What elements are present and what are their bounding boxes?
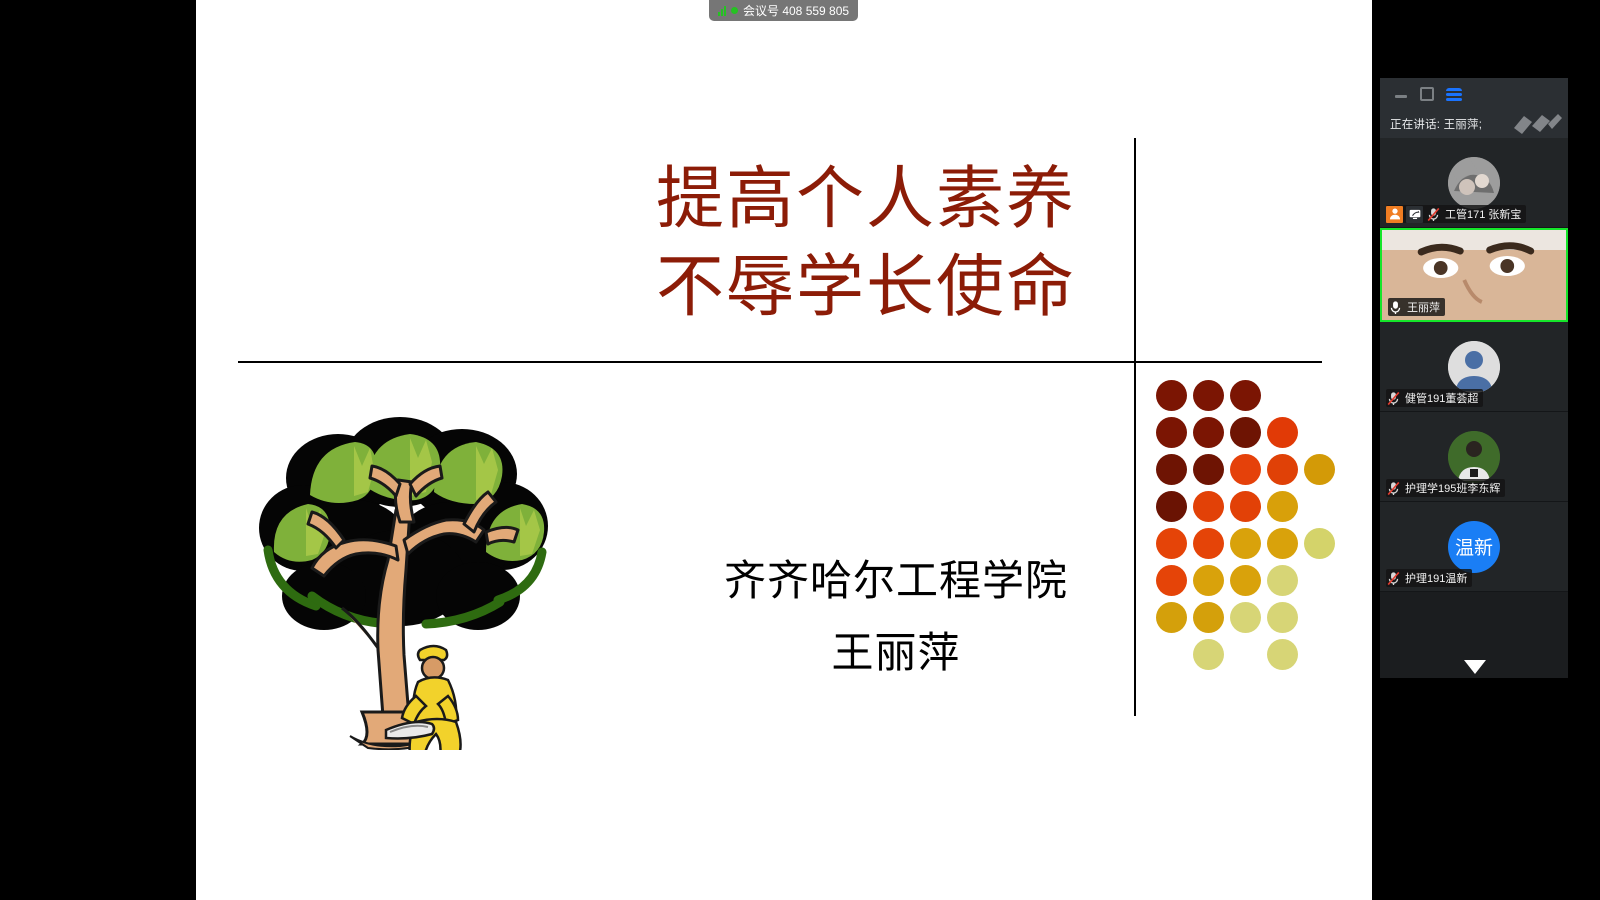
decorative-dot: [1230, 454, 1261, 485]
decorative-dot: [1193, 602, 1224, 633]
participant-tile[interactable]: 健管191董荟超: [1380, 322, 1568, 412]
decorative-dot: [1267, 602, 1298, 633]
avatar: [1448, 431, 1500, 483]
decorative-dot: [1267, 565, 1298, 596]
decorative-dot: [1156, 602, 1187, 633]
meeting-id-pill[interactable]: 会议号 408 559 805: [709, 0, 858, 21]
decorative-dot: [1156, 528, 1187, 559]
decorative-dot: [1156, 491, 1187, 522]
mic-muted-icon: [1426, 206, 1441, 223]
decorative-dot: [1193, 491, 1224, 522]
decorative-dot: [1267, 417, 1298, 448]
participant-badge: 工管171 张新宝: [1386, 205, 1526, 223]
minimize-icon[interactable]: [1394, 87, 1408, 101]
decorative-dot: [1230, 602, 1261, 633]
signal-bars-icon: [718, 6, 726, 16]
active-speaker-label: 正在讲话: 王丽萍;: [1390, 116, 1482, 132]
decorative-dot: [1304, 528, 1335, 559]
decorative-dot: [1193, 528, 1224, 559]
avatar: [1448, 157, 1500, 209]
panel-titlebar: [1380, 78, 1568, 110]
participant-tile[interactable]: 王丽萍: [1380, 228, 1568, 322]
participant-name: 护理学195班李东辉: [1404, 480, 1500, 496]
decorative-dot: [1156, 565, 1187, 596]
decorative-dot: [1230, 565, 1261, 596]
participant-tile[interactable]: 工管171 张新宝: [1380, 138, 1568, 228]
mic-muted-icon: [1386, 390, 1401, 407]
decorative-dot: [1156, 454, 1187, 485]
decorative-dot: [1267, 639, 1298, 670]
mic-muted-icon: [1386, 570, 1401, 587]
slide-title-line-1: 提高个人素养: [656, 160, 1076, 239]
slide-title: 提高个人素养 不辱学长使命: [616, 156, 1116, 332]
slide-subtitle-line-1: 齐齐哈尔工程学院: [724, 556, 1068, 605]
participant-tile[interactable]: 温新护理191温新: [1380, 502, 1568, 592]
active-speaker-status: 正在讲话: 王丽萍;: [1380, 110, 1568, 138]
decorative-dot: [1230, 491, 1261, 522]
decorative-dot: [1193, 639, 1224, 670]
participant-name: 健管191董荟超: [1404, 390, 1478, 406]
decorative-dot: [1193, 380, 1224, 411]
participant-badge: 健管191董荟超: [1386, 389, 1483, 407]
lumberjack-tree-illustration: [250, 400, 560, 750]
participant-name: 工管171 张新宝: [1444, 206, 1521, 222]
decorative-dot: [1267, 454, 1298, 485]
decorative-dot: [1193, 454, 1224, 485]
participant-name: 王丽萍: [1406, 299, 1440, 315]
avatar: [1448, 341, 1500, 393]
decorative-dot: [1156, 380, 1187, 411]
decorative-dot: [1193, 417, 1224, 448]
meeting-id-label: 会议号 408 559 805: [743, 2, 849, 19]
decorative-dot: [1304, 454, 1335, 485]
audio-level-icon: [1512, 114, 1562, 134]
participant-badge: 护理191温新: [1386, 569, 1472, 587]
slide-subtitle: 齐齐哈尔工程学院 王丽萍: [646, 545, 1146, 689]
decorative-dot: [1267, 528, 1298, 559]
participant-tile[interactable]: 护理学195班李东辉: [1380, 412, 1568, 502]
decorative-dot: [1230, 417, 1261, 448]
shared-slide: 提高个人素养 不辱学长使命 齐齐哈尔工程学院 王丽萍: [196, 0, 1372, 900]
decorative-dot: [1193, 565, 1224, 596]
screen-share-icon: [1406, 206, 1423, 223]
recording-dot-icon: [731, 7, 738, 14]
decorative-dot: [1267, 491, 1298, 522]
maximize-icon[interactable]: [1420, 87, 1434, 101]
decorative-dot: [1156, 417, 1187, 448]
host-person-icon: [1386, 206, 1403, 223]
scroll-down-caret-icon[interactable]: [1464, 660, 1486, 674]
participant-badge: 护理学195班李东辉: [1386, 479, 1505, 497]
participant-tile-list[interactable]: 工管171 张新宝王丽萍健管191董荟超护理学195班李东辉温新护理191温新: [1380, 138, 1568, 592]
decorative-dot: [1230, 380, 1261, 411]
hamburger-menu-icon[interactable]: [1446, 87, 1462, 101]
slide-title-line-2: 不辱学长使命: [616, 244, 1116, 332]
mic-on-icon: [1388, 299, 1403, 316]
slide-subtitle-line-2: 王丽萍: [831, 628, 960, 677]
mic-muted-icon: [1386, 480, 1401, 497]
avatar: 温新: [1448, 521, 1500, 573]
decorative-dot-grid: [1156, 380, 1356, 680]
screen-share-window: 提高个人素养 不辱学长使命 齐齐哈尔工程学院 王丽萍: [0, 0, 1600, 900]
decorative-dot: [1230, 528, 1261, 559]
participant-name: 护理191温新: [1404, 570, 1467, 586]
participant-badge: 王丽萍: [1388, 298, 1445, 316]
participant-video-panel: 正在讲话: 王丽萍; 工管171 张新宝王丽萍健管191董荟超护理学195班李东…: [1380, 78, 1568, 678]
slide-horizontal-rule: [238, 361, 1322, 363]
